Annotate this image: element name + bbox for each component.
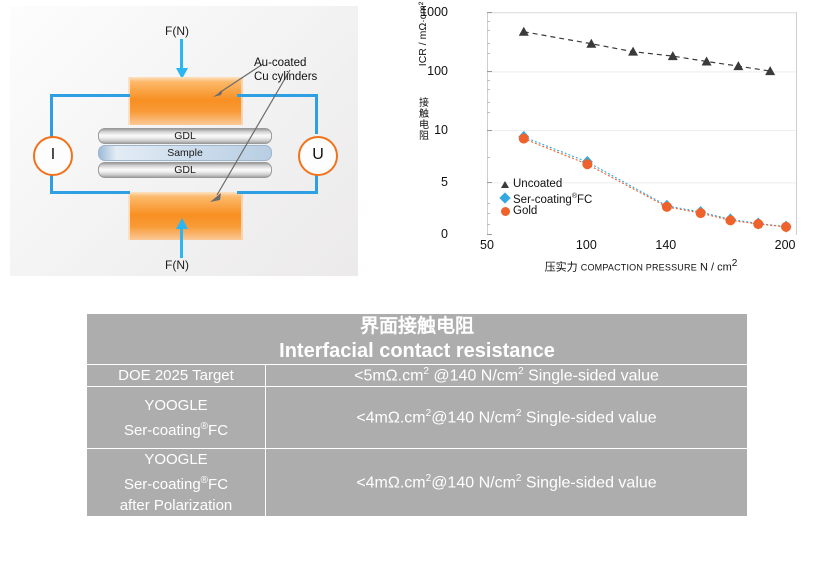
x-axis-title-unit: N / cm: [700, 262, 732, 274]
row-value-yoogle-after-polarization: <4mΩ.cm2@140 N/cm2 Single-sided value: [266, 449, 748, 517]
x-axis-title-caps: COMPACTION PRESSURE: [581, 263, 697, 273]
diamond-marker-icon: [499, 194, 511, 202]
triangle-marker-icon: [499, 181, 511, 188]
y-minor-tick: [487, 53, 490, 54]
y-minor-tick: [487, 112, 490, 113]
y-minor-tick: [487, 80, 490, 81]
voltage-meter-symbol: U: [298, 136, 338, 176]
force-up-arrow-icon: [178, 218, 185, 258]
y-tick-label: 1000: [396, 6, 448, 18]
value-suffix: Single-sided value: [524, 367, 659, 384]
au-coated-cu-cylinders-callout: Au-coated Cu cylinders: [254, 56, 317, 84]
y-tick-label: 100: [396, 65, 448, 77]
wire-right-vertical-upper: [315, 94, 318, 134]
y-minor-tick: [487, 89, 490, 90]
value-mid: @140 N/cm: [429, 367, 518, 384]
x-tick-label: 200: [775, 238, 796, 252]
y-tick-label: 5: [396, 176, 448, 188]
callout-line-1: Au-coated: [254, 56, 317, 70]
table-title-en: Interfacial contact resistance: [87, 338, 747, 364]
legend-item-ser-coating: Ser-coating®FC: [499, 192, 592, 206]
value-prefix: <4mΩ.cm: [356, 409, 425, 426]
y-minor-tick: [487, 203, 490, 204]
row-value-doe-target: <5mΩ.cm2 @140 N/cm2 Single-sided value: [266, 365, 748, 387]
interfacial-contact-resistance-table: 界面接触电阻 Interfacial contact resistance DO…: [86, 313, 748, 517]
wire-left-bottom: [50, 191, 130, 194]
table-header-row: 界面接触电阻 Interfacial contact resistance: [87, 314, 748, 365]
value-suffix: Single-sided value: [521, 409, 656, 426]
y-tick-mark: [487, 234, 492, 235]
y-minor-tick: [487, 157, 490, 158]
y-tick-mark: [487, 130, 492, 131]
chart-legend: Uncoated Ser-coating®FC Gold: [499, 178, 592, 219]
row-label-line: YOOGLE: [87, 449, 265, 470]
row-label-line: Ser-coating®FC: [87, 416, 265, 441]
y-minor-tick: [487, 224, 490, 225]
force-down-arrow-icon: [178, 39, 185, 79]
force-bottom-label: F(N): [165, 258, 189, 272]
table-title-cn: 界面接触电阻: [87, 314, 747, 338]
value-mid: @140 N/cm: [431, 409, 516, 426]
row-label-line: Ser-coating®FC: [87, 470, 265, 495]
force-top-label: F(N): [165, 24, 189, 38]
y-tick-label: 10: [396, 124, 448, 136]
row-label-line: after Polarization: [87, 495, 265, 516]
y-minor-tick: [487, 102, 490, 103]
x-axis-title-cn: 压实力: [545, 262, 578, 274]
legend-label-gold: Gold: [513, 205, 537, 219]
y-minor-tick: [487, 213, 490, 214]
x-tick-label: 100: [576, 238, 597, 252]
current-meter-symbol: I: [33, 136, 73, 176]
table-row: DOE 2025 Target <5mΩ.cm2 @140 N/cm2 Sing…: [87, 365, 748, 387]
y-minor-tick: [487, 21, 490, 22]
x-tick-label: 50: [480, 238, 494, 252]
value-prefix: <4mΩ.cm: [356, 474, 425, 491]
y-minor-tick: [487, 30, 490, 31]
value-suffix: Single-sided value: [521, 474, 656, 491]
x-tick-label: 140: [655, 238, 676, 252]
row-label-doe-target: DOE 2025 Target: [87, 365, 266, 387]
row-label-line: YOOGLE: [87, 395, 265, 416]
table-title-cell: 界面接触电阻 Interfacial contact resistance: [87, 314, 748, 365]
y-tick-mark: [487, 182, 492, 183]
circle-marker-icon: [499, 207, 511, 216]
value-mid: @140 N/cm: [431, 474, 516, 491]
y-tick-mark: [487, 12, 492, 13]
x-axis-title: 压实力 COMPACTION PRESSURE N / cm2: [487, 258, 795, 275]
callout-line-2: Cu cylinders: [254, 70, 317, 84]
value-prefix: <5mΩ.cm: [354, 367, 423, 384]
row-label-yoogle-ser-coating: YOOGLE Ser-coating®FC: [87, 387, 266, 449]
wire-left-top: [50, 94, 130, 97]
callout-leader-bottom: [207, 69, 292, 202]
row-value-yoogle-ser-coating: <4mΩ.cm2@140 N/cm2 Single-sided value: [266, 387, 748, 449]
icr-vs-pressure-chart: ICR / mΩ·cm² 接触电阻 10001001050 5010014020…: [415, 0, 832, 285]
row-label-line: DOE 2025 Target: [87, 365, 265, 386]
table-row: YOOGLE Ser-coating®FC <4mΩ.cm2@140 N/cm2…: [87, 387, 748, 449]
x-axis-unit-exponent: 2: [732, 258, 738, 269]
legend-item-gold: Gold: [499, 205, 592, 219]
y-tick-label: 0: [396, 228, 448, 240]
table-row: YOOGLE Ser-coating®FC after Polarization…: [87, 449, 748, 517]
y-minor-tick: [487, 43, 490, 44]
row-label-yoogle-after-polarization: YOOGLE Ser-coating®FC after Polarization: [87, 449, 266, 517]
y-tick-mark: [487, 71, 492, 72]
icr-setup-diagram: F(N) GDL Sample GDL F(N) I U Au-coated C…: [10, 6, 358, 276]
